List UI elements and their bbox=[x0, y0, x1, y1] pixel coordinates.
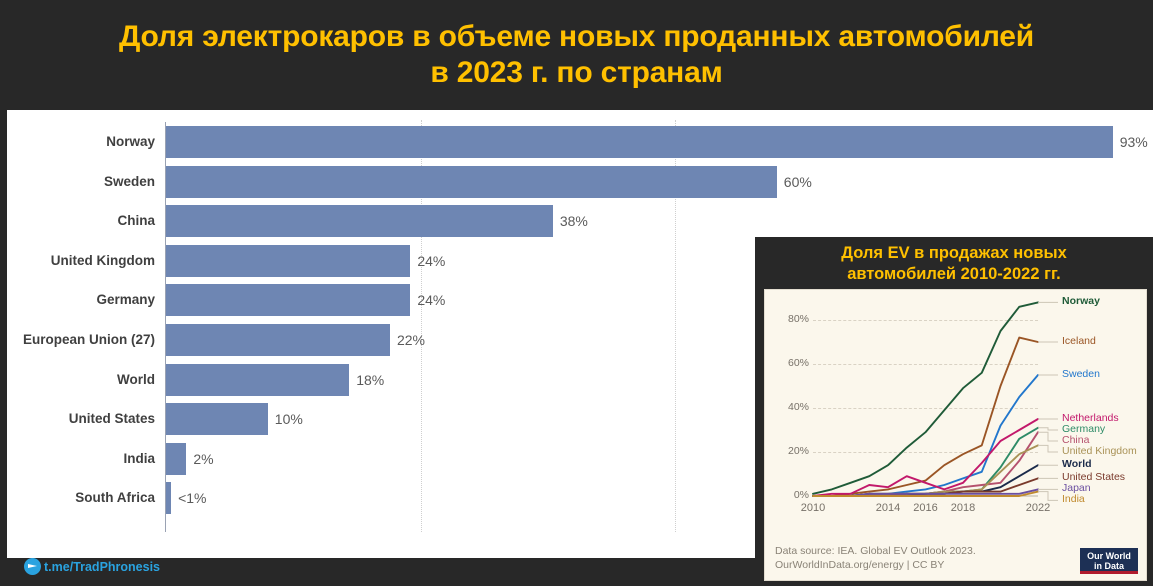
bar-track: 93% bbox=[166, 122, 1153, 162]
slide-title: Доля электрокаров в объеме новых проданн… bbox=[0, 0, 1153, 110]
bar-category-label: European Union (27) bbox=[7, 320, 155, 360]
bar-category-label: United Kingdom bbox=[7, 241, 155, 281]
bar-row: Sweden60% bbox=[7, 162, 1153, 202]
owid-source-line-2: OurWorldInData.org/energy | CC BY bbox=[775, 558, 976, 572]
inset-title-line-2: автомобилей 2010-2022 гг. bbox=[755, 264, 1153, 285]
owid-source: Data source: IEA. Global EV Outlook 2023… bbox=[775, 544, 976, 572]
bar-category-label: United States bbox=[7, 399, 155, 439]
bar[interactable] bbox=[166, 166, 777, 198]
bar[interactable] bbox=[166, 284, 410, 316]
bar[interactable] bbox=[166, 482, 171, 514]
bar-category-label: World bbox=[7, 360, 155, 400]
bar-row: China38% bbox=[7, 201, 1153, 241]
bar[interactable] bbox=[166, 403, 268, 435]
bar-value-label: 2% bbox=[193, 439, 213, 479]
bar-category-label: Sweden bbox=[7, 162, 155, 202]
bar[interactable] bbox=[166, 126, 1113, 158]
bar-category-label: South Africa bbox=[7, 478, 155, 518]
owid-logo-line-1: Our World bbox=[1080, 551, 1138, 561]
telegram-handle: t.me/TradPhronesis bbox=[44, 560, 160, 574]
inset-title-line-1: Доля EV в продажах новых bbox=[755, 243, 1153, 264]
bar-value-label: 24% bbox=[417, 241, 445, 281]
bar[interactable] bbox=[166, 245, 410, 277]
bar-track: 60% bbox=[166, 162, 1153, 202]
telegram-icon bbox=[24, 558, 41, 575]
title-line-1: Доля электрокаров в объеме новых проданн… bbox=[119, 19, 1034, 55]
bar-row: Norway93% bbox=[7, 122, 1153, 162]
bar[interactable] bbox=[166, 324, 390, 356]
inset-title: Доля EV в продажах новых автомобилей 201… bbox=[755, 243, 1153, 285]
bar-category-label: India bbox=[7, 439, 155, 479]
bar[interactable] bbox=[166, 205, 553, 237]
bar-track: 38% bbox=[166, 201, 1153, 241]
bar-category-label: China bbox=[7, 201, 155, 241]
bar[interactable] bbox=[166, 443, 186, 475]
owid-logo: Our World in Data bbox=[1080, 548, 1138, 574]
owid-source-line-1: Data source: IEA. Global EV Outlook 2023… bbox=[775, 544, 976, 558]
bar-value-label: 24% bbox=[417, 280, 445, 320]
bar-value-label: 93% bbox=[1120, 122, 1148, 162]
owid-legend-leaders bbox=[765, 290, 1146, 522]
owid-logo-line-2: in Data bbox=[1080, 561, 1138, 571]
bar-value-label: 22% bbox=[397, 320, 425, 360]
owid-chart: 0%20%40%60%80%20102014201620182022 Norwa… bbox=[764, 289, 1147, 581]
bar[interactable] bbox=[166, 364, 349, 396]
bar-value-label: <1% bbox=[178, 478, 206, 518]
bar-category-label: Germany bbox=[7, 280, 155, 320]
inset-card: Доля EV в продажах новых автомобилей 201… bbox=[755, 237, 1153, 586]
bar-value-label: 18% bbox=[356, 360, 384, 400]
bar-value-label: 60% bbox=[784, 162, 812, 202]
bar-category-label: Norway bbox=[7, 122, 155, 162]
bar-value-label: 38% bbox=[560, 201, 588, 241]
bar-value-label: 10% bbox=[275, 399, 303, 439]
owid-legend: NorwayIcelandSwedenNetherlandsGermanyChi… bbox=[765, 290, 1146, 522]
title-line-2: в 2023 г. по странам bbox=[430, 55, 722, 91]
telegram-watermark[interactable]: t.me/TradPhronesis bbox=[24, 558, 160, 575]
